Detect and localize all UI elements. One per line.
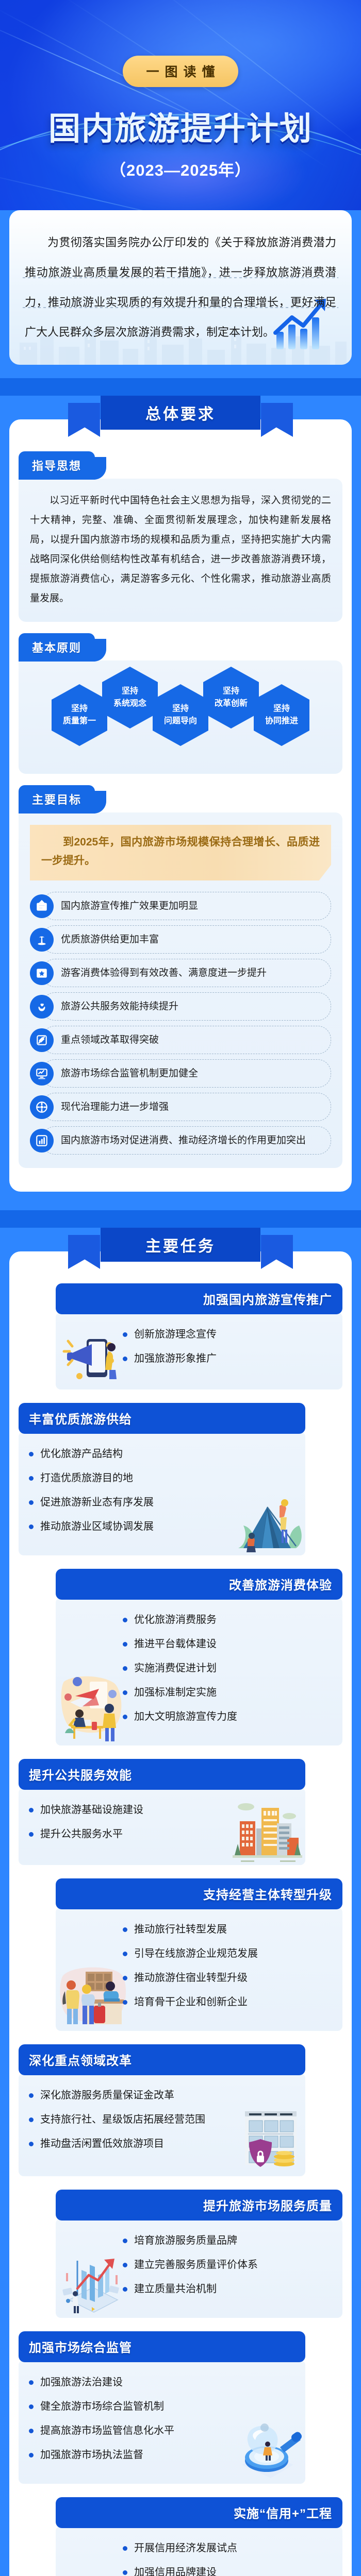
- hero-banner: 一图读懂 国内旅游提升计划 （2023—2025年）: [0, 0, 361, 242]
- main-tasks-section: 主要任务 加强国内旅游宣传推广: [0, 1228, 361, 2576]
- objective-item: 游客消费体验得到有效改善、满意度进一步提升: [30, 959, 331, 987]
- task-bullet: 加快旅游基础设施建设: [29, 1801, 243, 1819]
- principle-4-line1: 坚持: [223, 685, 239, 698]
- megaphone-phone-illustration: [60, 1327, 122, 1387]
- basic-principles-card: 基本原则 坚持 质量第一 坚持 系统观念 坚持 问题导向: [19, 633, 342, 774]
- guiding-thought-card: 指导思想 以习近平新时代中国特色社会主义思想为指导，深入贯彻党的二十大精神，完整…: [19, 451, 342, 622]
- task-bullet: 建立质量共治机制: [123, 2280, 332, 2298]
- task-body: 推动旅行社转型发展 引导在线旅游企业规范发展 推动旅游住宿业转型升级 培育骨干企…: [56, 1907, 342, 2031]
- objective-item: 现代治理能力进一步增强: [30, 1093, 331, 1121]
- task-bullet: 建立完善服务质量评价体系: [123, 2256, 332, 2274]
- task-title: 提升旅游市场服务质量: [56, 2190, 342, 2221]
- principle-hex-1: 坚持 质量第一: [52, 684, 107, 746]
- objective-text: 优质旅游供给更加丰富: [42, 925, 331, 954]
- task-bullets: 开展信用经济发展试点 加强信用品牌建设 拓展信用应用场景: [123, 2539, 332, 2576]
- infographic-page: 一图读懂 国内旅游提升计划 （2023—2025年）: [0, 0, 361, 2576]
- task-bullet: 健全旅游市场综合监管机制: [29, 2398, 243, 2415]
- task-title: 加强市场综合监管: [19, 2331, 305, 2362]
- principle-4-line2: 改革创新: [215, 698, 248, 710]
- objective-item: 旅游公共服务效能持续提升: [30, 992, 331, 1021]
- guiding-thought-text: 以习近平新时代中国特色社会主义思想为指导，深入贯彻党的二十大精神，完整、准确、全…: [30, 491, 331, 608]
- main-objectives-tab: 主要目标: [19, 785, 95, 814]
- principle-2-line1: 坚持: [122, 685, 138, 698]
- overall-panel: 指导思想 以习近平新时代中国特色社会主义思想为指导，深入贯彻党的二十大精神，完整…: [9, 419, 352, 1192]
- principle-hex-4: 坚持 改革创新: [203, 667, 259, 728]
- task-card-operators: 支持经营主体转型升级: [19, 1878, 342, 2031]
- camping-tent-illustration: [235, 1493, 302, 1553]
- palm-island-icon: [30, 928, 54, 952]
- intro-card: 为贯彻落实国务院办公厅印发的《关于释放旅游消费潜力推动旅游业高质量发展的若干措施…: [9, 210, 352, 365]
- objectives-list: 国内旅游宣传推广效果更加明显 优质旅游供给更加丰富: [30, 892, 331, 1155]
- task-title: 深化重点领域改革: [19, 2044, 305, 2075]
- objective-item: 国内旅游市场对促进消费、推动经济增长的作用更加突出: [30, 1126, 331, 1155]
- objective-item: 国内旅游宣传推广效果更加明显: [30, 892, 331, 920]
- task-bullet: 推动盘活闲置低效旅游项目: [29, 2135, 243, 2153]
- task-bullets: 优化旅游产品结构 打造优质旅游目的地 促进旅游新业态有序发展 推动旅游业区域协调…: [29, 1445, 243, 1535]
- section-title-tasks: 主要任务: [101, 1228, 260, 1262]
- task-bullet: 实施消费促进计划: [123, 1659, 332, 1677]
- read-in-one-chart-badge: 一图读懂: [123, 56, 238, 87]
- overall-requirements-section: 总体要求 指导思想 以习近平新时代中国特色社会主义思想为指导，深入贯彻党的二十大…: [0, 396, 361, 1210]
- guiding-thought-body: 以习近平新时代中国特色社会主义思想为指导，深入贯彻党的二十大精神，完整、准确、全…: [19, 479, 342, 622]
- task-card-experience: 改善旅游消费体验: [19, 1569, 342, 1745]
- tasks-panel: 加强国内旅游宣传推广 创新旅游理念宣传: [9, 1251, 352, 2576]
- task-card-key-reform: 深化重点领域改革: [19, 2044, 342, 2176]
- task-bullets: 加强旅游法治建设 健全旅游市场综合监管机制 提高旅游市场监管信息化水平 加强旅游…: [29, 2374, 243, 2464]
- task-bullet: 加大文明旅游宣传力度: [123, 1708, 332, 1725]
- task-bullets: 培育旅游服务质量品牌 建立完善服务质量评价体系 建立质量共治机制: [123, 2232, 332, 2298]
- task-title: 提升公共服务效能: [19, 1759, 305, 1790]
- principle-hex-3: 坚持 问题导向: [153, 684, 208, 746]
- task-bullet: 加强旅游形象推广: [123, 1350, 332, 1367]
- task-bullet: 推动旅游业区域协调发展: [29, 1518, 243, 1535]
- task-bullets: 创新旅游理念宣传 加强旅游形象推广: [123, 1326, 332, 1367]
- principle-3-line2: 问题导向: [164, 715, 197, 727]
- bar-chart-icon: [30, 1129, 54, 1153]
- task-bullets: 深化旅游服务质量保证金改革 支持旅行社、星级饭店拓展经营范围 推动盘活闲置低效旅…: [29, 2087, 243, 2153]
- hotel-reception-illustration: [60, 1954, 129, 2029]
- task-bullet: 支持旅行社、星级饭店拓展经营范围: [29, 2111, 243, 2128]
- task-bullet: 提高旅游市场监管信息化水平: [29, 2422, 243, 2439]
- task-card-supervision: 加强市场综合监管: [19, 2331, 342, 2484]
- task-title: 实施“信用+”工程: [56, 2497, 342, 2528]
- main-objectives-card: 主要目标 到2025年，国内旅游市场规模保持合理增长、品质进一步提升。 国内旅游…: [19, 785, 342, 1168]
- certificate-icon: [30, 894, 54, 918]
- task-bullet: 推动旅游住宿业转型升级: [123, 1969, 332, 1987]
- task-bullet: 加强旅游法治建设: [29, 2374, 243, 2391]
- growth-chart-person-illustration: [60, 2246, 124, 2316]
- task-body: 开展信用经济发展试点 加强信用品牌建设 拓展信用应用场景: [56, 2526, 342, 2576]
- heart-hands-icon: [30, 995, 54, 1019]
- task-bullets: 优化旅游消费服务 推进平台载体建设 实施消费促进计划 加强标准制定实施 加大文明…: [123, 1611, 332, 1725]
- objective-text: 重点领域改革取得突破: [42, 1026, 331, 1054]
- principle-5-line1: 坚持: [273, 703, 290, 715]
- task-body: 深化旅游服务质量保证金改革 支持旅行社、星级饭店拓展经营范围 推动盘活闲置低效旅…: [19, 2073, 305, 2176]
- principle-hex-5: 坚持 协同推进: [254, 684, 309, 746]
- task-bullet: 开展信用经济发展试点: [123, 2539, 332, 2557]
- task-bullets: 推动旅行社转型发展 引导在线旅游企业规范发展 推动旅游住宿业转型升级 培育骨干企…: [123, 1921, 332, 2011]
- building-shield-lock-illustration: [238, 2102, 302, 2174]
- task-card-promotion: 加强国内旅游宣传推广 创新旅游理念宣传: [19, 1283, 342, 1389]
- page-title: 国内旅游提升计划: [0, 103, 361, 149]
- basic-principles-tab: 基本原则: [19, 633, 95, 662]
- task-body: 优化旅游产品结构 打造优质旅游目的地 促进旅游新业态有序发展 推动旅游业区域协调…: [19, 1432, 305, 1555]
- task-bullet: 推动旅行社转型发展: [123, 1921, 332, 1938]
- objective-item: 旅游市场综合监管机制更加健全: [30, 1059, 331, 1088]
- travel-desk-illustration: [60, 1666, 129, 1743]
- reform-pen-icon: [30, 1028, 54, 1052]
- objective-text: 现代治理能力进一步增强: [42, 1093, 331, 1121]
- intro-paragraph: 为贯彻落实国务院办公厅印发的《关于释放旅游消费潜力推动旅游业高质量发展的若干措施…: [25, 228, 336, 347]
- task-bullets: 加快旅游基础设施建设 提升公共服务水平: [29, 1801, 243, 1843]
- main-objectives-body: 到2025年，国内旅游市场规模保持合理增长、品质进一步提升。 国内旅游宣传推广效…: [19, 812, 342, 1168]
- star-badge-icon: [30, 961, 54, 985]
- task-bullet: 创新旅游理念宣传: [123, 1326, 332, 1343]
- guiding-thought-tab: 指导思想: [19, 451, 95, 480]
- task-card-supply: 丰富优质旅游供给: [19, 1403, 342, 1555]
- task-bullet: 引导在线旅游企业规范发展: [123, 1945, 332, 1962]
- principle-2-line2: 系统观念: [113, 698, 146, 710]
- task-bullet: 优化旅游消费服务: [123, 1611, 332, 1629]
- task-bullet: 提升公共服务水平: [29, 1825, 243, 1843]
- governance-wheel-icon: [30, 1095, 54, 1119]
- objective-text: 国内旅游市场对促进消费、推动经济增长的作用更加突出: [42, 1126, 331, 1155]
- principle-1-line2: 质量第一: [63, 715, 96, 727]
- principle-hex-2: 坚持 系统观念: [102, 667, 158, 728]
- principle-5-line2: 协同推进: [265, 715, 298, 727]
- task-card-public-service: 提升公共服务效能: [19, 1759, 342, 1865]
- hero-badge-wrap: 一图读懂: [0, 0, 361, 87]
- objectives-gold-banner: 到2025年，国内旅游市场规模保持合理增长、品质进一步提升。: [30, 825, 331, 880]
- monitor-chart-icon: [30, 1062, 54, 1086]
- task-title: 加强国内旅游宣传推广: [56, 1283, 342, 1314]
- principle-3-line1: 坚持: [172, 703, 189, 715]
- task-body: 优化旅游消费服务 推进平台载体建设 实施消费促进计划 加强标准制定实施 加大文明…: [56, 1598, 342, 1745]
- task-card-service-quality: 提升旅游市场服务质量: [19, 2190, 342, 2318]
- task-title: 改善旅游消费体验: [56, 1569, 342, 1600]
- objective-item: 优质旅游供给更加丰富: [30, 925, 331, 954]
- task-body: 加快旅游基础设施建设 提升公共服务水平: [19, 1788, 305, 1865]
- task-bullet: 推进平台载体建设: [123, 1635, 332, 1653]
- task-body: 加强旅游法治建设 健全旅游市场综合监管机制 提高旅游市场监管信息化水平 加强旅游…: [19, 2360, 305, 2484]
- task-card-credit-plus: 实施“信用+”工程 开展信用经济发展试点 加强信用品牌建设 拓: [19, 2497, 342, 2576]
- task-bullet: 加强标准制定实施: [123, 1684, 332, 1701]
- objective-text: 旅游市场综合监管机制更加健全: [42, 1059, 331, 1088]
- task-body: 培育旅游服务质量品牌 建立完善服务质量评价体系 建立质量共治机制: [56, 2218, 342, 2318]
- handshake-illustration: [60, 2563, 126, 2576]
- task-title: 支持经营主体转型升级: [56, 1878, 342, 1909]
- task-bullet: 优化旅游产品结构: [29, 1445, 243, 1463]
- principle-1-line1: 坚持: [71, 703, 88, 715]
- task-title: 丰富优质旅游供给: [19, 1403, 305, 1434]
- section-gap: [0, 1192, 361, 1205]
- basic-principles-body: 坚持 质量第一 坚持 系统观念 坚持 问题导向 坚持: [19, 660, 342, 774]
- task-bullet: 加强信用品牌建设: [123, 2564, 332, 2576]
- task-bullet: 深化旅游服务质量保证金改革: [29, 2087, 243, 2104]
- task-bullet: 加强旅游市场执法监督: [29, 2446, 243, 2464]
- task-bullet: 培育骨干企业和创新企业: [123, 1993, 332, 2011]
- section-title-overall: 总体要求: [101, 396, 260, 430]
- task-bullet: 促进旅游新业态有序发展: [29, 1494, 243, 1511]
- page-subtitle: （2023—2025年）: [0, 157, 361, 180]
- objective-text: 游客消费体验得到有效改善、满意度进一步提升: [42, 959, 331, 987]
- objective-item: 重点领域改革取得突破: [30, 1026, 331, 1054]
- principles-hexagon-row: 坚持 质量第一 坚持 系统观念 坚持 问题导向 坚持: [30, 673, 331, 751]
- objective-text: 国内旅游宣传推广效果更加明显: [42, 892, 331, 920]
- task-bullet: 培育旅游服务质量品牌: [123, 2232, 332, 2249]
- task-body: 创新旅游理念宣传 加强旅游形象推广: [56, 1312, 342, 1389]
- task-bullet: 打造优质旅游目的地: [29, 1469, 243, 1487]
- objective-text: 旅游公共服务效能持续提升: [42, 992, 331, 1021]
- objectives-banner-text: 到2025年，国内旅游市场规模保持合理增长、品质进一步提升。: [41, 833, 320, 870]
- intro-section: 为贯彻落实国务院办公厅印发的《关于释放旅游消费潜力推动旅游业高质量发展的若干措施…: [0, 210, 361, 378]
